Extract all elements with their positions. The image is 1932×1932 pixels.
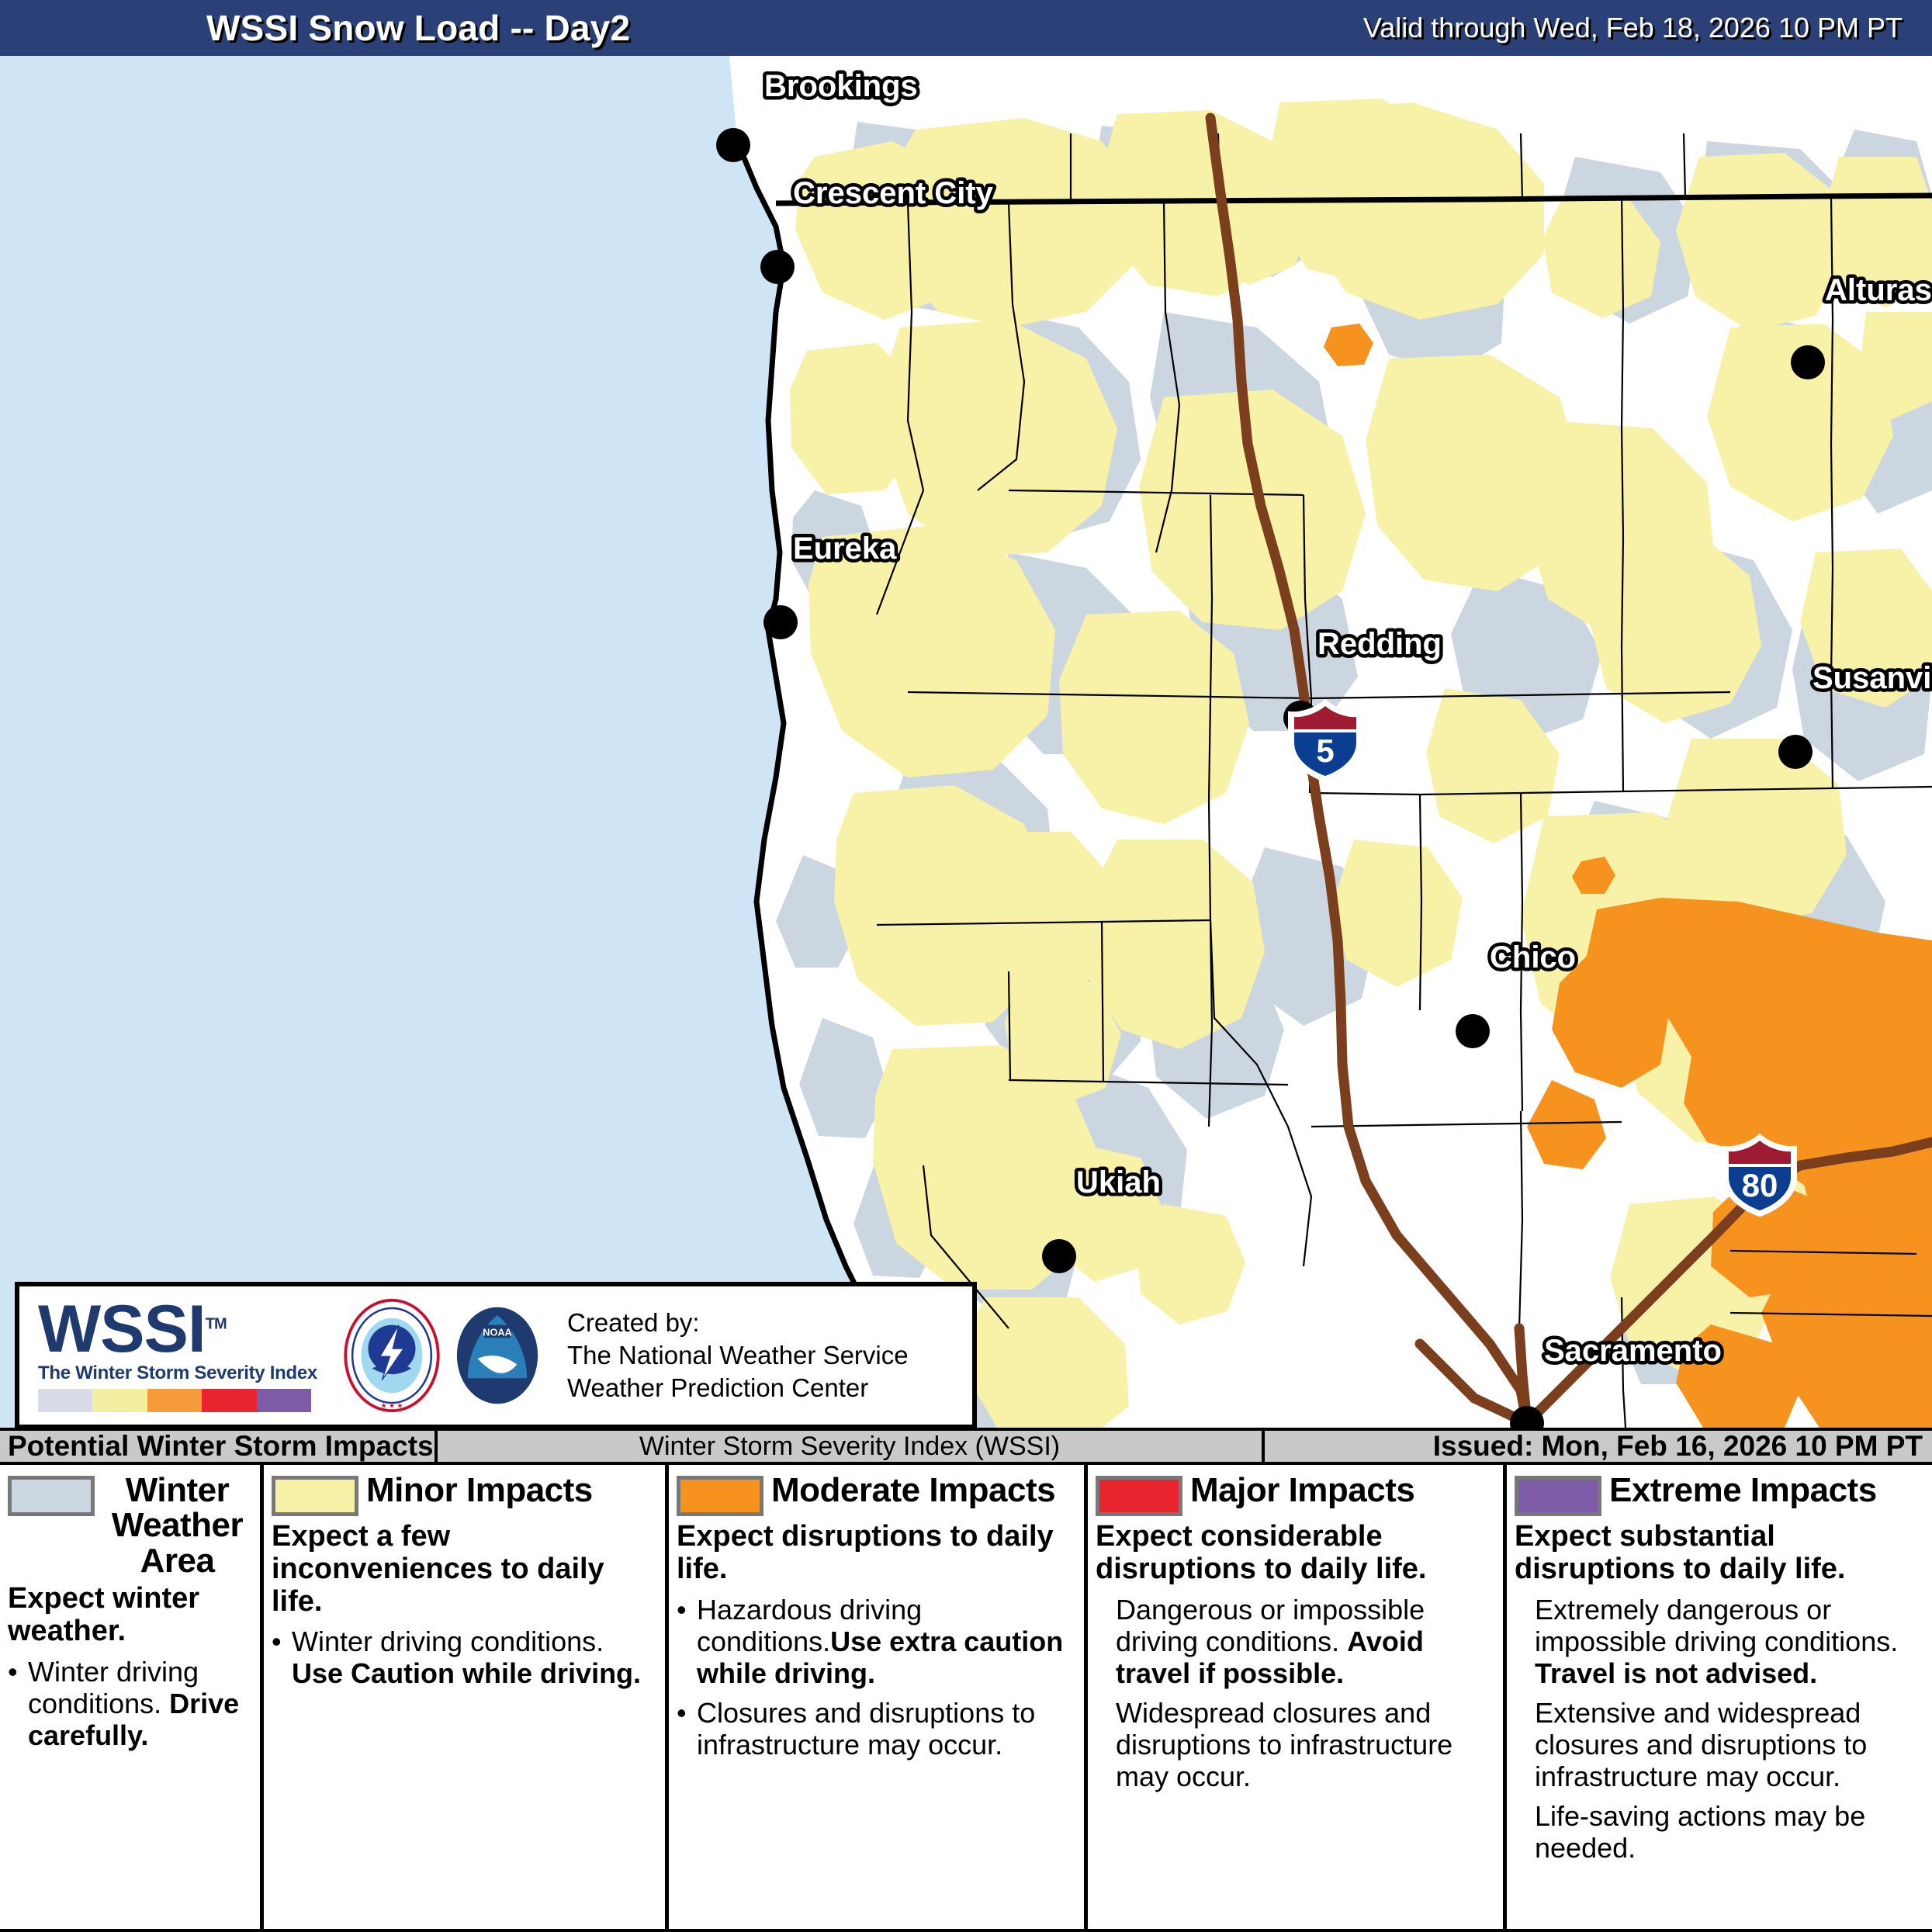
wssi-wordmark: WSSITM: [38, 1299, 330, 1360]
legend-bullets-major-impacts: •Dangerous or impossible driving conditi…: [1096, 1594, 1495, 1792]
city-dot-crescent-city: [760, 250, 795, 284]
logo-swatch-1: [92, 1389, 147, 1412]
city-dot-susanville: [1778, 735, 1813, 769]
created-by-line-1: The National Weather Service: [567, 1339, 909, 1372]
logo-swatch-0: [38, 1389, 92, 1412]
svg-text:★ ★ ★: ★ ★ ★: [381, 1401, 403, 1409]
shield-route-number: 80: [1742, 1167, 1778, 1203]
legend-lead-moderate-impacts: Expect disruptions to daily life.: [677, 1521, 1076, 1586]
legend-swatch-moderate-impacts: [677, 1476, 763, 1516]
noaa-seal-icon: NOAA: [448, 1297, 547, 1414]
legend-bullet-extreme-impacts-2: •Life-saving actions may be needed.: [1515, 1800, 1924, 1864]
legend-bullet-major-impacts-1: •Widespread closures and disruptions to …: [1096, 1697, 1495, 1792]
agency-seals: ★ ★ ★ NOAA: [342, 1297, 547, 1414]
bullet-text: Closures and disruptions to infrastructu…: [697, 1697, 1076, 1761]
legend-bullet-extreme-impacts-1: •Extensive and widespread closures and d…: [1515, 1697, 1924, 1792]
legend-lead-extreme-impacts: Expect substantial disruptions to daily …: [1515, 1521, 1924, 1586]
legend-bullets-extreme-impacts: •Extremely dangerous or impossible drivi…: [1515, 1594, 1924, 1864]
bullet-text: Hazardous driving conditions.Use extra c…: [697, 1594, 1076, 1689]
city-label-eureka: Eureka: [793, 531, 897, 566]
wssi-tagline: The Winter Storm Severity Index: [38, 1362, 330, 1384]
legend-bullet-moderate-impacts-1: •Closures and disruptions to infrastruct…: [677, 1697, 1076, 1761]
legend-column-moderate-impacts[interactable]: Moderate ImpactsExpect disruptions to da…: [669, 1465, 1088, 1929]
bullet-dot-icon: •: [677, 1697, 697, 1761]
legend-swatch-minor-impacts: [272, 1476, 358, 1516]
logo-swatch-3: [202, 1389, 256, 1412]
wssi-map-page: WSSI Snow Load -- Day2 Valid through Wed…: [0, 0, 1932, 1932]
bullet-text: Life-saving actions may be needed.: [1535, 1800, 1924, 1864]
bullet-text: Widespread closures and disruptions to i…: [1116, 1697, 1495, 1792]
city-label-brookings: Brookings: [764, 69, 918, 103]
legend-header-extreme-impacts: Extreme Impacts: [1515, 1473, 1924, 1516]
legend-title-extreme-impacts: Extreme Impacts: [1609, 1473, 1877, 1508]
legend-lead-major-impacts: Expect considerable disruptions to daily…: [1096, 1521, 1495, 1586]
status-issued-text: Issued: Mon, Feb 16, 2026 10 PM PT: [1265, 1431, 1932, 1462]
legend-title-winter-weather-area: WinterWeatherArea: [102, 1473, 252, 1578]
legend-lead-winter-weather-area: Expect winter weather.: [8, 1583, 252, 1648]
city-label-sacramento: Sacramento: [1544, 1334, 1722, 1368]
legend-title-moderate-impacts: Moderate Impacts: [771, 1473, 1055, 1508]
legend-bullets-winter-weather-area: •Winter driving conditions. Drive carefu…: [8, 1656, 252, 1751]
svg-text:NOAA: NOAA: [483, 1327, 511, 1338]
legend-header-minor-impacts: Minor Impacts: [272, 1473, 657, 1516]
city-dot-brookings: [716, 128, 750, 162]
created-by-line-2: Weather Prediction Center: [567, 1372, 909, 1404]
legend-title-major-impacts: Major Impacts: [1190, 1473, 1414, 1508]
city-label-ukiah: Ukiah: [1076, 1165, 1161, 1200]
legend-swatch-major-impacts: [1096, 1476, 1182, 1516]
valid-through-text: Valid through Wed, Feb 18, 2026 10 PM PT: [1363, 12, 1912, 44]
legend-bullet-major-impacts-0: •Dangerous or impossible driving conditi…: [1096, 1594, 1495, 1689]
impact-legend: WinterWeatherAreaExpect winter weather.•…: [0, 1465, 1932, 1932]
legend-bullets-moderate-impacts: •Hazardous driving conditions.Use extra …: [677, 1594, 1076, 1761]
legend-title-minor-impacts: Minor Impacts: [366, 1473, 593, 1508]
legend-header-moderate-impacts: Moderate Impacts: [677, 1473, 1076, 1516]
legend-bullet-extreme-impacts-0: •Extremely dangerous or impossible drivi…: [1515, 1594, 1924, 1689]
trademark-symbol: TM: [206, 1316, 227, 1333]
bullet-dot-icon: •: [8, 1656, 28, 1751]
city-label-alturas: Alturas: [1825, 273, 1932, 307]
legend-column-winter-weather-area[interactable]: WinterWeatherAreaExpect winter weather.•…: [0, 1465, 264, 1929]
bullet-dot-icon: •: [272, 1626, 292, 1689]
city-dot-ukiah: [1042, 1239, 1076, 1273]
bullet-text: Extensive and widespread closures and di…: [1535, 1697, 1924, 1792]
legend-lead-minor-impacts: Expect a few inconveniences to daily lif…: [272, 1521, 657, 1618]
shield-route-number: 5: [1316, 732, 1334, 769]
status-potential-impacts: Potential Winter Storm Impacts: [0, 1431, 435, 1462]
city-label-redding: Redding: [1317, 627, 1442, 661]
page-title: WSSI Snow Load -- Day2: [20, 7, 630, 49]
interstate-shield-80: 80: [1726, 1137, 1794, 1214]
created-by-line-0: Created by:: [567, 1307, 909, 1339]
header-bar: WSSI Snow Load -- Day2 Valid through Wed…: [0, 0, 1932, 56]
city-label-crescent-city: Crescent City: [793, 176, 994, 210]
nws-seal-icon: ★ ★ ★: [342, 1297, 441, 1414]
legend-header-winter-weather-area: WinterWeatherArea: [8, 1473, 252, 1578]
bullet-dot-icon: •: [677, 1594, 697, 1689]
legend-bullet-minor-impacts-0: •Winter driving conditions. Use Caution …: [272, 1626, 657, 1689]
logo-swatch-4: [257, 1389, 311, 1412]
legend-column-major-impacts[interactable]: Major ImpactsExpect considerable disrupt…: [1088, 1465, 1507, 1929]
bullet-text: Winter driving conditions. Use Caution w…: [292, 1626, 657, 1689]
logo-swatch-2: [147, 1389, 202, 1412]
map-svg: BrookingsCrescent CityEurekaReddingAltur…: [0, 56, 1932, 1428]
status-index-name: Winter Storm Severity Index (WSSI): [438, 1431, 1262, 1462]
city-dot-alturas: [1791, 345, 1825, 379]
wssi-scale-swatches: [38, 1389, 311, 1412]
interstate-shield-5: 5: [1291, 703, 1359, 779]
legend-header-major-impacts: Major Impacts: [1096, 1473, 1495, 1516]
created-by-text: Created by: The National Weather Service…: [559, 1307, 909, 1405]
legend-column-extreme-impacts[interactable]: Extreme ImpactsExpect substantial disrup…: [1507, 1465, 1932, 1929]
bullet-text: Dangerous or impossible driving conditio…: [1116, 1594, 1495, 1689]
legend-swatch-winter-weather-area: [8, 1476, 95, 1516]
legend-column-minor-impacts[interactable]: Minor ImpactsExpect a few inconveniences…: [264, 1465, 669, 1929]
status-bar: Potential Winter Storm Impacts Winter St…: [0, 1428, 1932, 1465]
bullet-text: Extremely dangerous or impossible drivin…: [1535, 1594, 1924, 1689]
city-dot-eureka: [763, 605, 798, 639]
city-dot-chico: [1456, 1014, 1490, 1048]
legend-swatch-extreme-impacts: [1515, 1476, 1601, 1516]
wssi-logo-box: WSSITM The Winter Storm Severity Index ★…: [15, 1282, 977, 1429]
bullet-text: Winter driving conditions. Drive careful…: [28, 1656, 252, 1751]
map-canvas[interactable]: BrookingsCrescent CityEurekaReddingAltur…: [0, 56, 1932, 1428]
city-label-susanville: Susanville: [1813, 661, 1932, 695]
city-label-chico: Chico: [1490, 940, 1576, 975]
legend-bullet-winter-weather-area-0: •Winter driving conditions. Drive carefu…: [8, 1656, 252, 1751]
wssi-wordmark-block: WSSITM The Winter Storm Severity Index: [27, 1299, 330, 1411]
legend-bullets-minor-impacts: •Winter driving conditions. Use Caution …: [272, 1626, 657, 1689]
legend-bullet-moderate-impacts-0: •Hazardous driving conditions.Use extra …: [677, 1594, 1076, 1689]
